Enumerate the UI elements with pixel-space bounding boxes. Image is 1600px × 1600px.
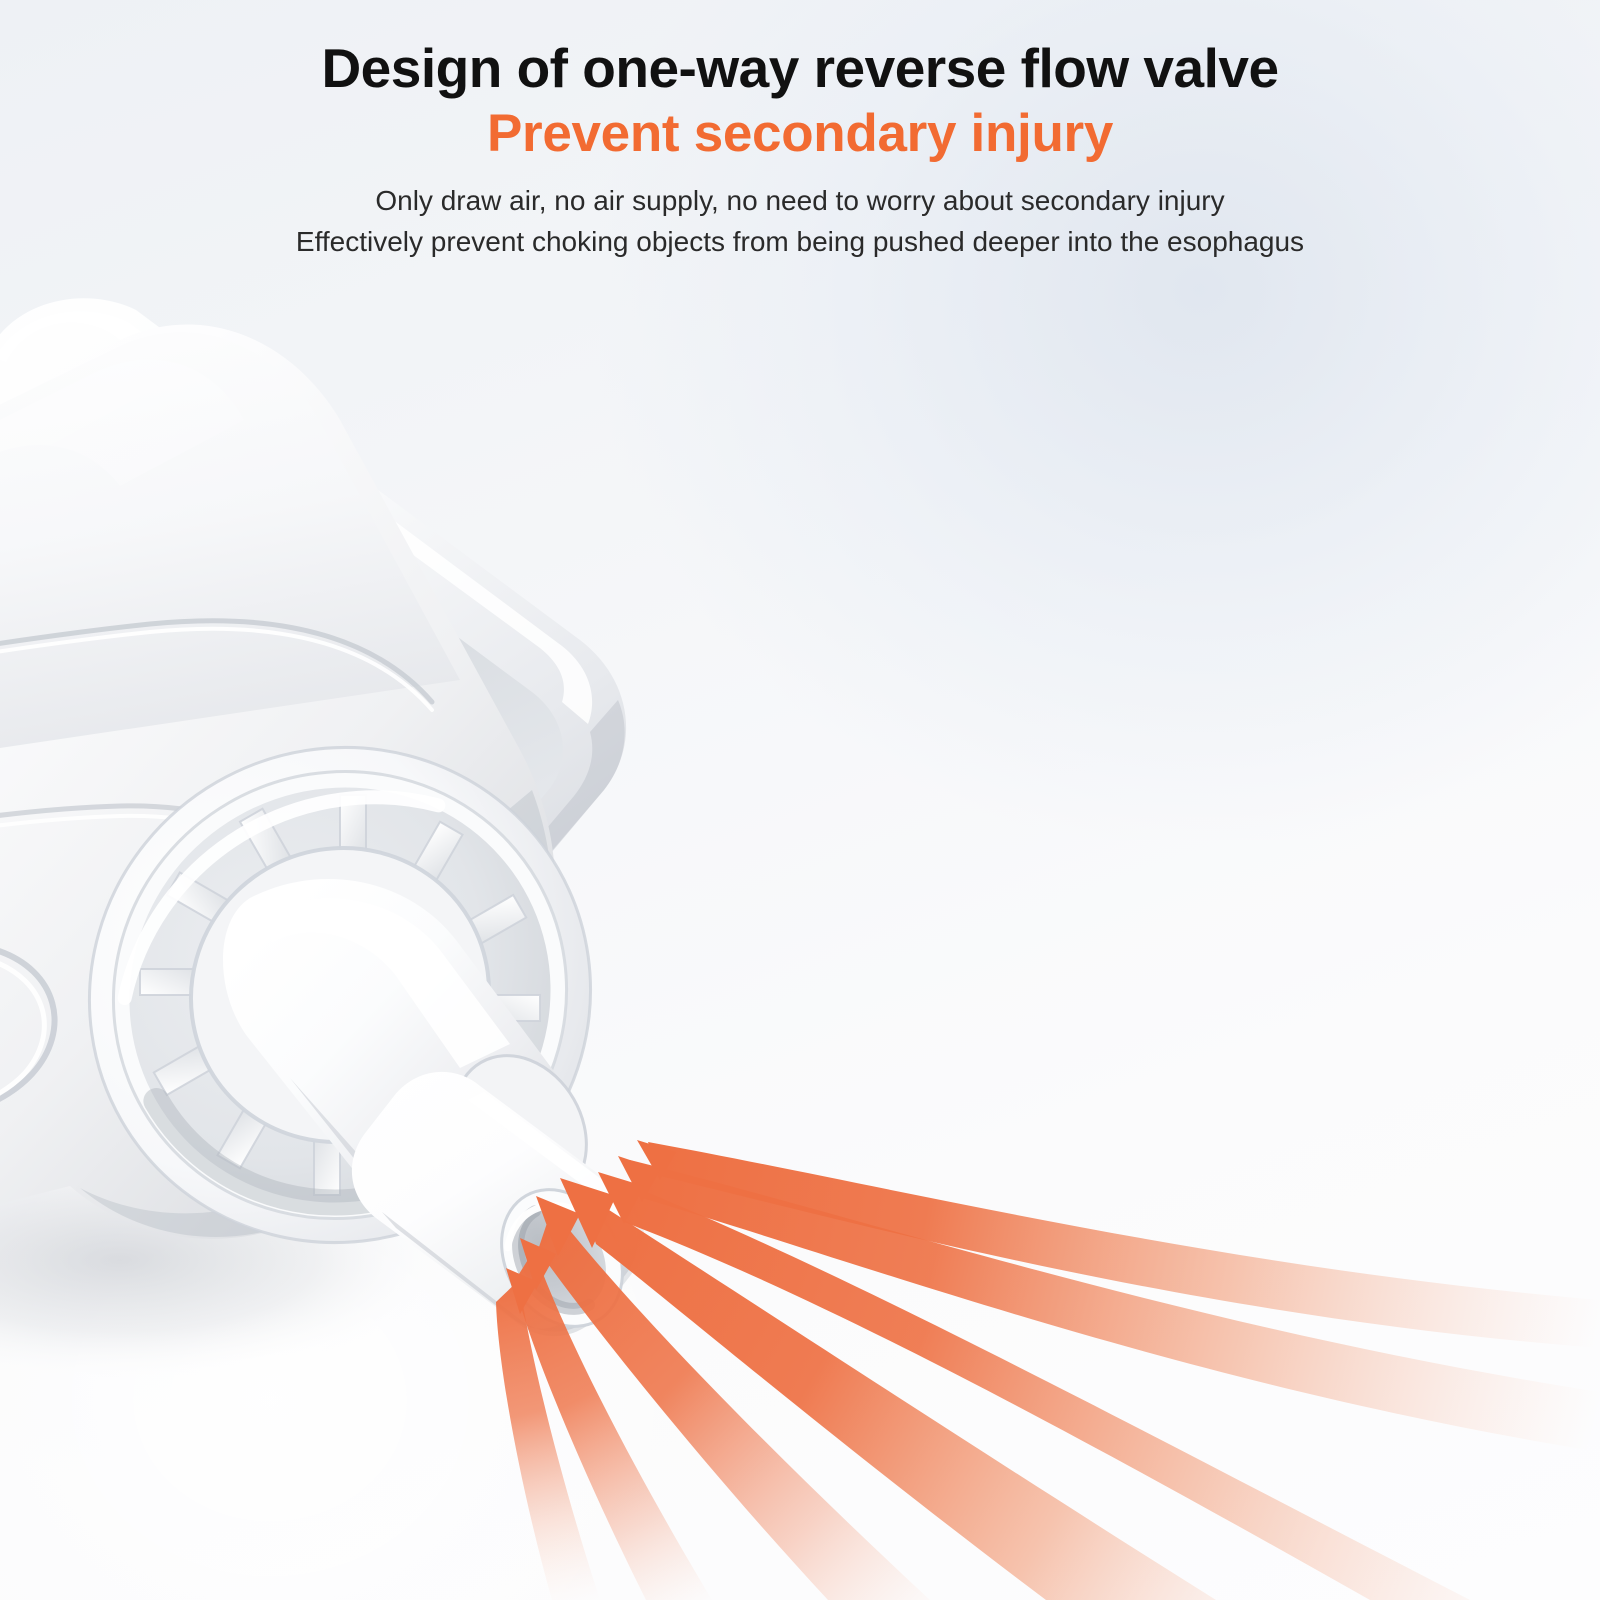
product-feature-banner: Design of one-way reverse flow valve Pre… [0, 0, 1600, 1600]
body-line-2: Effectively prevent choking objects from… [0, 222, 1600, 263]
product-image [0, 250, 870, 1400]
page-title: Design of one-way reverse flow valve [0, 0, 1600, 100]
body-line-1: Only draw air, no air supply, no need to… [0, 163, 1600, 222]
headline-block: Design of one-way reverse flow valve Pre… [0, 0, 1600, 262]
page-subtitle: Prevent secondary injury [0, 100, 1600, 163]
